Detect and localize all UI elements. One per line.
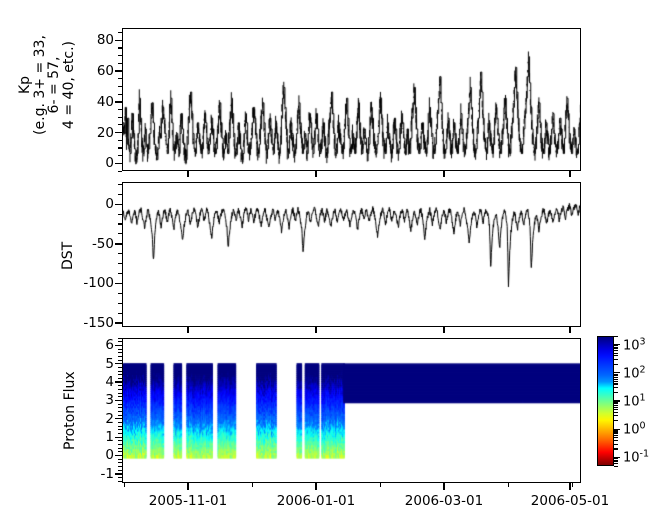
y-tick-major	[115, 345, 122, 346]
kp-axis-label-line-3: 4 = 40, etc.)	[62, 10, 77, 160]
y-tick-minor	[118, 393, 122, 394]
y-tick-minor	[118, 273, 122, 274]
colorbar-tick-minor	[614, 458, 618, 459]
x-tick-major	[569, 483, 570, 490]
y-tick-label: 1	[72, 429, 114, 445]
y-tick-major	[115, 204, 122, 205]
y-tick-minor	[118, 86, 122, 87]
dst-axis-label-text: DST	[60, 242, 76, 270]
y-tick-minor	[118, 448, 122, 449]
y-tick-minor	[118, 451, 122, 452]
x-tick-major	[443, 483, 444, 490]
x-tick-label: 2006-01-01	[277, 493, 355, 509]
colorbar-tick-minor	[614, 353, 618, 354]
x-tick-major	[315, 327, 316, 333]
dst-axis-label: DST	[60, 242, 76, 270]
y-tick-minor	[118, 378, 122, 379]
y-tick-minor	[118, 462, 122, 463]
colorbar-tick-minor	[614, 377, 618, 378]
proton-flux-heatmap-canvas	[123, 339, 581, 483]
colorbar-tick-minor	[614, 379, 618, 380]
y-tick-minor	[118, 338, 122, 339]
colorbar-tick-minor	[614, 407, 618, 408]
colorbar-tick-exponent: 1	[640, 392, 646, 403]
y-tick-minor	[118, 263, 122, 264]
y-tick-label: 3	[72, 392, 114, 408]
x-tick-major	[443, 327, 444, 333]
y-tick-label: 0	[72, 155, 114, 171]
figure-root: 020406080 Kp (e.g. 3+ = 33, 6- = 57, 4 =…	[0, 0, 665, 523]
y-tick-minor	[118, 422, 122, 423]
y-tick-minor	[118, 233, 122, 234]
y-tick-minor	[118, 470, 122, 471]
y-tick-minor	[118, 293, 122, 294]
colorbar-tick-minor	[614, 435, 618, 436]
y-tick-label: 0	[72, 447, 114, 463]
x-tick-minor	[572, 483, 573, 487]
kp-axis-label: Kp (e.g. 3+ = 33, 6- = 57, 4 = 40, etc.)	[18, 10, 77, 160]
y-tick-minor	[118, 117, 122, 118]
y-tick-minor	[118, 360, 122, 361]
colorbar-tick-minor	[614, 463, 618, 464]
y-tick-label: 5	[72, 356, 114, 372]
colorbar-tick-minor	[614, 364, 618, 365]
y-tick-minor	[118, 63, 122, 64]
colorbar-tick-mantissa: 10	[623, 366, 640, 381]
colorbar-tick-minor	[614, 444, 618, 445]
x-tick-label: 2006-05-01	[531, 493, 609, 509]
colorbar-tick-minor	[614, 440, 618, 441]
y-tick-major	[115, 455, 122, 456]
y-tick-label: 40	[72, 94, 114, 110]
y-tick-major	[115, 243, 122, 244]
kp-axis-label-line-2: 6- = 57,	[47, 10, 62, 160]
y-tick-minor	[118, 385, 122, 386]
y-tick-label: -100	[72, 275, 114, 291]
y-tick-major	[115, 163, 122, 164]
colorbar-tick-minor	[614, 448, 618, 449]
colorbar-tick-minor	[614, 412, 618, 413]
x-tick-major	[443, 171, 444, 177]
colorbar-tick-minor	[614, 415, 618, 416]
x-tick-minor	[508, 483, 509, 487]
y-tick-minor	[118, 415, 122, 416]
y-tick-minor	[118, 47, 122, 48]
x-tick-major	[187, 483, 188, 490]
colorbar-tick-mantissa: 10	[623, 395, 640, 410]
y-tick-major	[115, 381, 122, 382]
y-tick-minor	[118, 184, 122, 185]
colorbar-tick-minor	[614, 430, 618, 431]
colorbar-tick-minor	[614, 403, 618, 404]
y-tick-major	[115, 437, 122, 438]
y-tick-minor	[118, 481, 122, 482]
colorbar-tick-label: 103	[623, 336, 646, 353]
colorbar-tick-minor	[614, 359, 618, 360]
proton-flux-axis-label-text: Proton Flux	[62, 371, 78, 450]
colorbar-tick-minor	[614, 431, 618, 432]
colorbar-tick-exponent: -1	[640, 449, 649, 460]
y-tick-minor	[118, 374, 122, 375]
y-tick-major	[115, 322, 122, 323]
colorbar-tick-minor	[614, 348, 618, 349]
y-tick-minor	[118, 407, 122, 408]
y-tick-minor	[118, 404, 122, 405]
colorbar-tick-minor	[614, 402, 618, 403]
y-tick-minor	[118, 466, 122, 467]
y-tick-major	[115, 70, 122, 71]
colorbar-tick-minor	[614, 350, 618, 351]
colorbar-tick-minor	[614, 336, 618, 337]
colorbar-tick-minor	[614, 347, 618, 348]
colorbar-tick-minor	[614, 466, 618, 467]
kp-axis-label-line-1: (e.g. 3+ = 33,	[33, 10, 48, 160]
colorbar-tick-minor	[614, 409, 618, 410]
y-tick-label: 60	[72, 63, 114, 79]
colorbar-tick-minor	[614, 375, 618, 376]
dst-panel	[122, 182, 581, 327]
colorbar-tick-label: 100	[623, 421, 646, 438]
y-tick-major	[115, 40, 122, 41]
colorbar-tick-mantissa: 10	[623, 338, 640, 353]
dst-series-canvas	[123, 183, 581, 327]
y-tick-minor	[118, 396, 122, 397]
y-tick-major	[115, 400, 122, 401]
colorbar-tick-minor	[614, 381, 618, 382]
y-tick-major	[115, 418, 122, 419]
y-tick-label: 2	[72, 411, 114, 427]
y-tick-major	[115, 132, 122, 133]
y-tick-minor	[118, 371, 122, 372]
colorbar-tick-label: 10-1	[623, 449, 649, 466]
x-tick-major	[187, 327, 188, 333]
colorbar-tick-minor	[614, 405, 618, 406]
y-tick-label: -50	[72, 236, 114, 252]
y-tick-minor	[118, 313, 122, 314]
y-tick-major	[115, 101, 122, 102]
y-tick-minor	[118, 459, 122, 460]
x-tick-major	[315, 483, 316, 490]
y-tick-minor	[118, 349, 122, 350]
y-tick-minor	[118, 147, 122, 148]
x-tick-major	[187, 171, 188, 177]
x-tick-major	[315, 171, 316, 177]
y-tick-minor	[118, 171, 122, 172]
y-tick-minor	[118, 109, 122, 110]
y-tick-minor	[118, 477, 122, 478]
y-tick-minor	[118, 194, 122, 195]
x-tick-minor	[252, 483, 253, 487]
y-tick-minor	[118, 352, 122, 353]
proton-flux-axis-label: Proton Flux	[62, 371, 78, 450]
y-tick-label: 6	[72, 337, 114, 353]
y-tick-minor	[118, 124, 122, 125]
colorbar-tick-minor	[614, 355, 618, 356]
kp-axis-label-line-0: Kp	[18, 10, 33, 160]
y-tick-minor	[118, 223, 122, 224]
x-tick-label: 2005-11-01	[149, 493, 227, 509]
colorbar-tick-minor	[614, 437, 618, 438]
colorbar-tick-minor	[614, 387, 618, 388]
kp-series-canvas	[123, 29, 581, 171]
x-tick-minor	[124, 483, 125, 487]
y-tick-major	[115, 283, 122, 284]
y-tick-minor	[118, 367, 122, 368]
colorbar-tick-exponent: 2	[640, 364, 646, 375]
x-tick-major	[569, 327, 570, 333]
y-tick-label: 0	[72, 196, 114, 212]
y-tick-label: -150	[72, 315, 114, 331]
y-tick-minor	[118, 155, 122, 156]
colorbar-tick-minor	[614, 461, 618, 462]
y-tick-minor	[118, 389, 122, 390]
colorbar-tick-label: 102	[623, 364, 646, 381]
y-tick-minor	[118, 341, 122, 342]
colorbar-tick-mantissa: 10	[623, 451, 640, 466]
y-tick-minor	[118, 411, 122, 412]
colorbar-tick-minor	[614, 392, 618, 393]
y-tick-minor	[118, 440, 122, 441]
colorbar-tick-label: 101	[623, 392, 646, 409]
y-tick-minor	[118, 253, 122, 254]
y-tick-minor	[118, 94, 122, 95]
y-tick-minor	[118, 433, 122, 434]
y-tick-minor	[118, 444, 122, 445]
y-tick-minor	[118, 78, 122, 79]
x-tick-minor	[380, 483, 381, 487]
y-tick-label: -1	[72, 466, 114, 482]
colorbar-tick-minor	[614, 433, 618, 434]
colorbar-tick-minor	[614, 460, 618, 461]
y-tick-minor	[118, 426, 122, 427]
colorbar-tick-exponent: 3	[640, 336, 646, 347]
colorbar-tick-mantissa: 10	[623, 423, 640, 438]
proton-flux-panel	[122, 338, 581, 483]
flux-colorbar	[597, 336, 614, 466]
y-tick-minor	[118, 356, 122, 357]
y-tick-label: 80	[72, 32, 114, 48]
y-tick-major	[115, 363, 122, 364]
x-tick-label: 2006-03-01	[405, 493, 483, 509]
y-tick-minor	[118, 55, 122, 56]
colorbar-tick-minor	[614, 383, 618, 384]
y-tick-major	[115, 473, 122, 474]
kp-panel	[122, 28, 581, 171]
y-tick-label: 4	[72, 374, 114, 390]
y-tick-minor	[118, 214, 122, 215]
colorbar-tick-minor	[614, 374, 618, 375]
colorbar-tick-minor	[614, 345, 618, 346]
y-tick-minor	[118, 140, 122, 141]
colorbar-tick-exponent: 0	[640, 421, 646, 432]
colorbar-tick-minor	[614, 420, 618, 421]
y-tick-minor	[118, 32, 122, 33]
y-tick-minor	[118, 303, 122, 304]
x-tick-major	[569, 171, 570, 177]
y-tick-minor	[118, 429, 122, 430]
y-tick-label: 20	[72, 125, 114, 141]
